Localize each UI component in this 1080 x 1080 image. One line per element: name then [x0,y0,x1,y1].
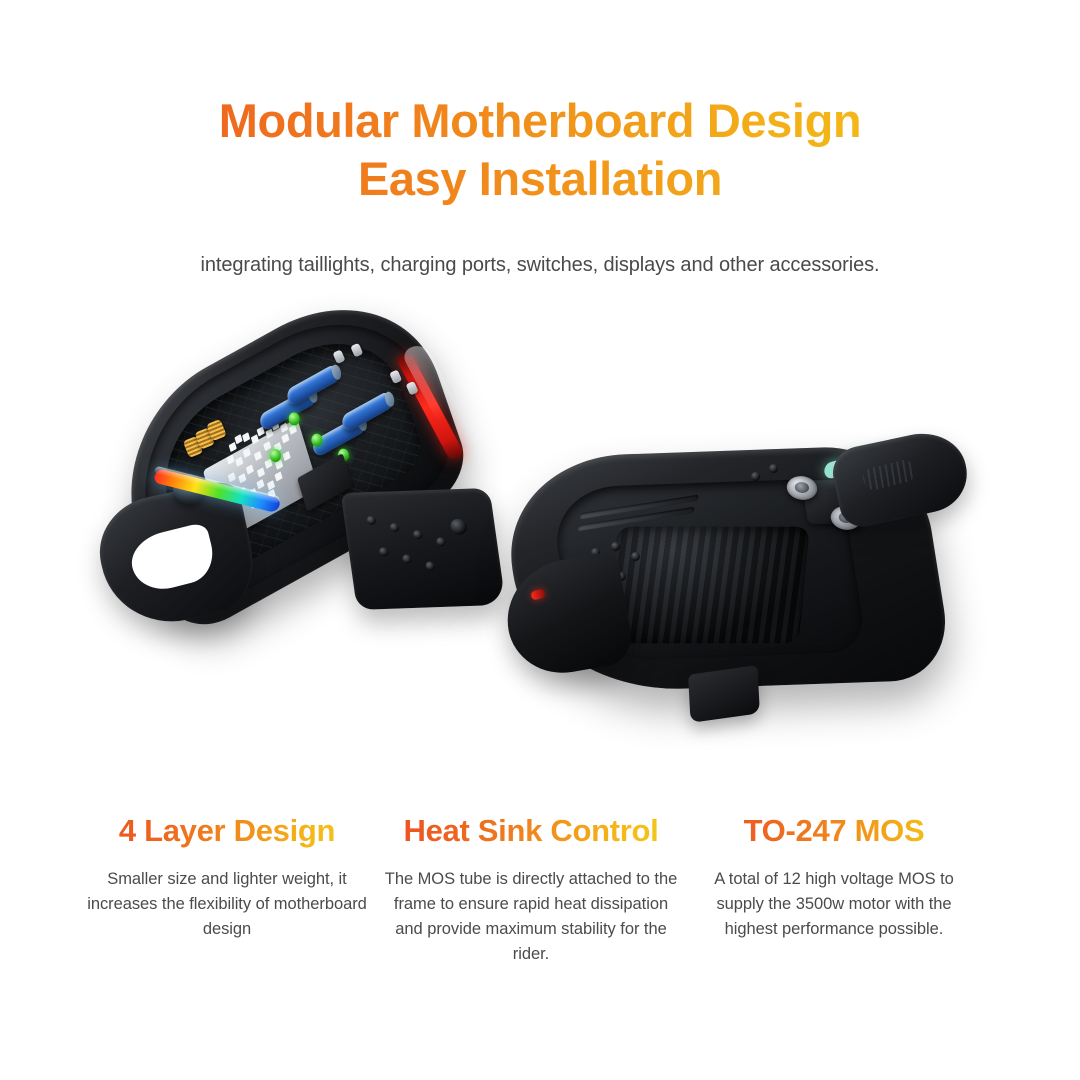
headline-line-2: Easy Installation [0,150,1080,208]
bolt-hole-icon [631,552,640,561]
feature-body-3: A total of 12 high voltage MOS to supply… [692,867,976,942]
subheadline: integrating taillights, charging ports, … [0,254,1080,277]
bolt-hole-icon [769,464,778,473]
feature-title-1: 4 Layer Design [84,812,370,849]
product-underside-cover [505,420,985,750]
feature-title-2: Heat Sink Control [382,812,680,849]
feature-column-2: Heat Sink Control The MOS tube is direct… [376,812,686,968]
feature-body-2: The MOS tube is directly attached to the… [382,867,680,967]
product-open-deck [90,323,523,707]
rear-mount-block [341,488,506,610]
bolt-hole-icon [389,523,399,532]
bolt-hole-icon [436,537,446,546]
bolt-hole-icon [449,519,467,535]
bolt-hole-icon [425,561,435,570]
bolt-hole-icon [413,530,423,539]
headline-block: Modular Motherboard Design Easy Installa… [0,0,1080,277]
bolt-hole-icon [751,472,760,481]
bolt-hole-icon [379,547,389,556]
feature-title-3: TO-247 MOS [692,812,976,849]
product-image-stage [0,320,1080,790]
mount-tab [688,665,760,723]
feature-body-1: Smaller size and lighter weight, it incr… [84,867,370,942]
heat-sink-shading [606,527,810,644]
bolt-hole-icon [402,554,412,563]
bolt-hole-icon [366,516,376,525]
feature-columns: 4 Layer Design Smaller size and lighter … [0,812,1080,968]
feature-column-3: TO-247 MOS A total of 12 high voltage MO… [686,812,982,968]
headline-line-1: Modular Motherboard Design [0,92,1080,150]
feature-column-1: 4 Layer Design Smaller size and lighter … [78,812,376,968]
bolt-hole-icon [611,542,620,551]
